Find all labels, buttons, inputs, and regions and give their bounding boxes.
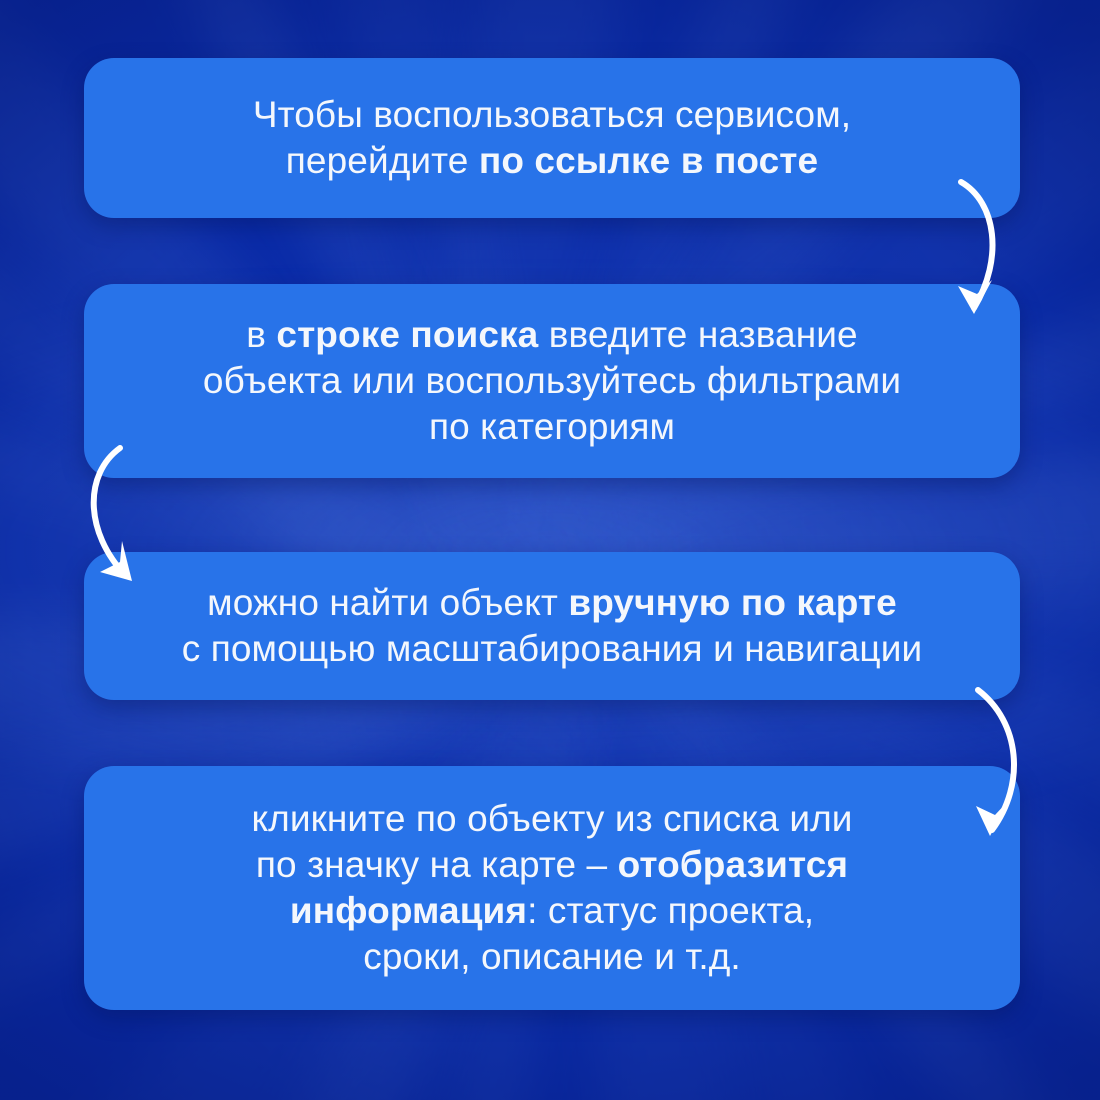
step-card-3-text: можно найти объект вручную по карте с по… (182, 580, 922, 672)
step-card-4-text: кликните по объекту из списка или по зна… (251, 796, 852, 980)
step-card-2-text: в строке поиска введите название объекта… (203, 312, 901, 450)
step-card-4: кликните по объекту из списка или по зна… (84, 766, 1020, 1010)
step-card-1: Чтобы воспользоваться сервисом, перейдит… (84, 58, 1020, 218)
infographic-canvas: Чтобы воспользоваться сервисом, перейдит… (0, 0, 1100, 1100)
step-card-2: в строке поиска введите название объекта… (84, 284, 1020, 478)
step-card-3: можно найти объект вручную по карте с по… (84, 552, 1020, 700)
step-card-1-text: Чтобы воспользоваться сервисом, перейдит… (253, 92, 851, 184)
